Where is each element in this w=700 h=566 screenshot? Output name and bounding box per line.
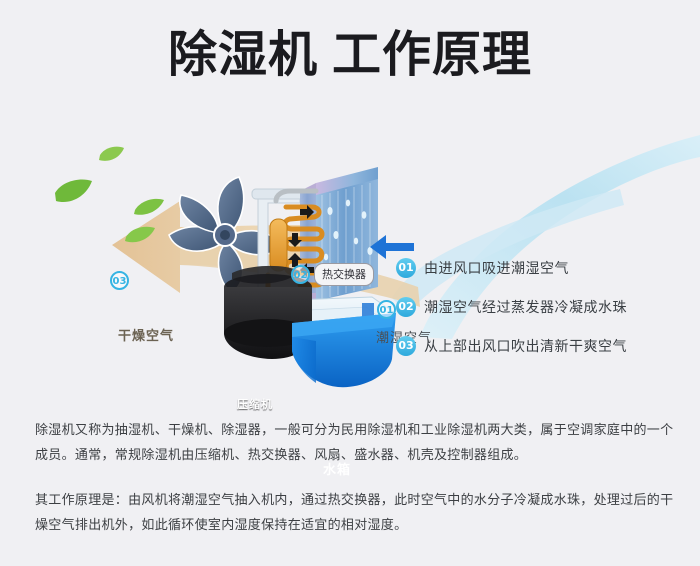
dry-air-badge: 03 [110, 271, 129, 290]
infographic-page: 除湿机工作原理 [0, 0, 700, 566]
legend-list: 01 由进风口吸进潮湿空气 02 潮湿空气经过蒸发器冷凝成水珠 03 从上部出风… [396, 258, 686, 375]
leaf-icon-group [55, 147, 164, 243]
heat-exchanger-badge: 02 [291, 265, 310, 284]
legend-badge: 03 [396, 336, 416, 356]
description-paragraph-2: 其工作原理是：由风机将潮湿空气抽入机内，通过热交换器，此时空气中的水分子冷凝成水… [35, 488, 675, 538]
title-part-b: 工作原理 [332, 26, 532, 83]
description-paragraph-1: 除湿机又称为抽湿机、干燥机、除湿器，一般可分为民用除湿机和工业除湿机两大类，属于… [35, 418, 675, 468]
legend-badge: 01 [396, 258, 416, 278]
legend-label: 潮湿空气经过蒸发器冷凝成水珠 [424, 297, 627, 317]
heat-exchanger-callout: 热交换器 [314, 263, 374, 286]
heat-exchanger-label: 02热交换器 [291, 263, 374, 286]
humid-air-badge: 01 [377, 300, 396, 319]
legend-label: 由进风口吸进潮湿空气 [424, 258, 569, 278]
legend-item: 03 从上部出风口吹出清新干爽空气 [396, 336, 686, 356]
legend-item: 02 潮湿空气经过蒸发器冷凝成水珠 [396, 297, 686, 317]
dry-air-text: 干燥空气 [118, 325, 174, 344]
title-part-a: 除湿机 [168, 26, 318, 83]
humid-air-label: 01 [377, 299, 396, 319]
legend-badge: 02 [396, 297, 416, 317]
compressor-text: 压缩机 [237, 396, 273, 412]
legend-label: 从上部出风口吹出清新干爽空气 [424, 336, 627, 356]
legend-item: 01 由进风口吸进潮湿空气 [396, 258, 686, 278]
description-block: 除湿机又称为抽湿机、干燥机、除湿器，一般可分为民用除湿机和工业除湿机两大类，属于… [35, 418, 675, 538]
water-tank [292, 313, 396, 387]
dry-air-label: 03 [110, 270, 129, 290]
page-title: 除湿机工作原理 [0, 28, 700, 82]
